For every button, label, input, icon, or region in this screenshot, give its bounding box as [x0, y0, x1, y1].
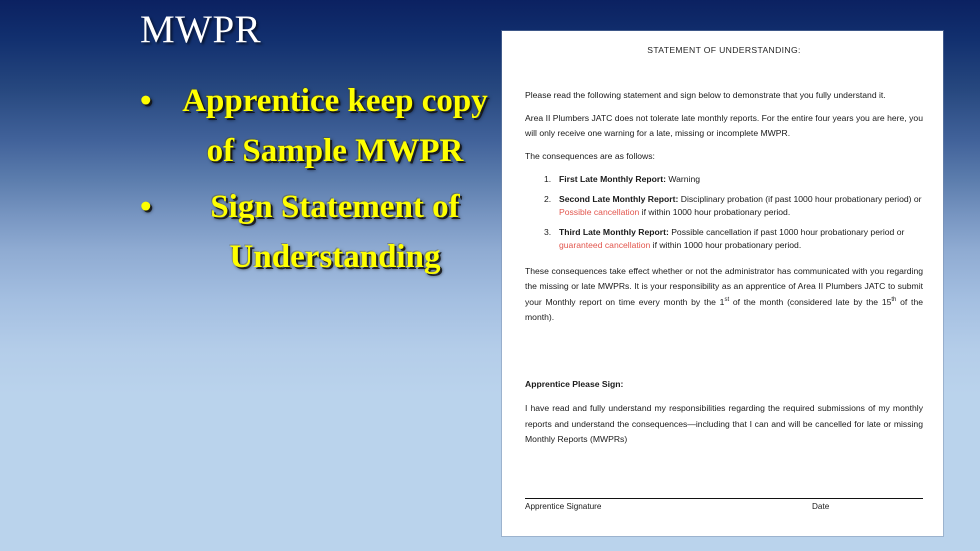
- list-item: 2.Second Late Monthly Report: Disciplina…: [525, 193, 923, 220]
- list-item: 3.Third Late Monthly Report: Possible ca…: [525, 226, 923, 253]
- list-item-number: 2.: [544, 193, 551, 207]
- document-paragraph-consequences-lead: The consequences are as follows:: [525, 149, 923, 165]
- list-item-text: Disciplinary probation (if past 1000 hou…: [678, 194, 921, 204]
- list-item-warning-text: guaranteed cancellation: [559, 240, 650, 250]
- bullet-item-label: Apprentice keep copy of Sample MWPR: [166, 76, 504, 176]
- list-item-label: Second Late Monthly Report:: [559, 194, 678, 204]
- closing-part-2: of the month (considered late by the 15: [729, 297, 891, 307]
- consequences-list: 1.First Late Monthly Report: Warning 2.S…: [525, 173, 923, 253]
- signature-caption-date: Date: [812, 502, 829, 511]
- signature-statement-text: I have read and fully understand my resp…: [525, 401, 923, 448]
- statement-of-understanding-document: STATEMENT OF UNDERSTANDING: Please read …: [502, 31, 943, 536]
- slide-bullet-list: • Apprentice keep copy of Sample MWPR • …: [132, 76, 504, 288]
- signature-line-block: Apprentice Signature Date: [525, 498, 923, 514]
- list-item-text: Warning: [666, 174, 700, 184]
- document-paragraph-policy: Area II Plumbers JATC does not tolerate …: [525, 111, 923, 142]
- list-item-text-tail: if within 1000 hour probationary period.: [639, 207, 790, 217]
- list-item-warning-text: Possible cancellation: [559, 207, 639, 217]
- list-item-number: 3.: [544, 226, 551, 240]
- bullet-point-icon: •: [140, 182, 154, 232]
- document-body: Please read the following statement and …: [525, 88, 923, 333]
- list-item-number: 1.: [544, 173, 551, 187]
- list-item: 1.First Late Monthly Report: Warning: [525, 173, 923, 187]
- signature-caption-apprentice: Apprentice Signature: [525, 502, 601, 511]
- list-item: • Apprentice keep copy of Sample MWPR: [132, 76, 504, 176]
- document-heading: STATEMENT OF UNDERSTANDING:: [525, 45, 923, 55]
- document-paragraph-closing: These consequences take effect whether o…: [525, 264, 923, 326]
- bullet-item-label: Sign Statement of Understanding: [166, 182, 504, 282]
- list-item-label: Third Late Monthly Report:: [559, 227, 669, 237]
- list-item-label: First Late Monthly Report:: [559, 174, 666, 184]
- presentation-slide: MWPR • Apprentice keep copy of Sample MW…: [0, 0, 980, 551]
- signature-rule[interactable]: [525, 498, 923, 499]
- list-item-text: Possible cancellation if past 1000 hour …: [669, 227, 905, 237]
- signature-section-heading: Apprentice Please Sign:: [525, 379, 923, 389]
- document-content: STATEMENT OF UNDERSTANDING: Please read …: [525, 31, 923, 536]
- signature-caption-row: Apprentice Signature Date: [525, 502, 923, 514]
- document-paragraph-intro: Please read the following statement and …: [525, 88, 923, 104]
- page-title: MWPR: [140, 8, 261, 52]
- signature-section: Apprentice Please Sign: I have read and …: [525, 379, 923, 448]
- list-item-text-tail: if within 1000 hour probationary period.: [650, 240, 801, 250]
- slide-text-column: MWPR • Apprentice keep copy of Sample MW…: [0, 0, 505, 551]
- list-item: • Sign Statement of Understanding: [132, 182, 504, 282]
- bullet-point-icon: •: [140, 76, 154, 126]
